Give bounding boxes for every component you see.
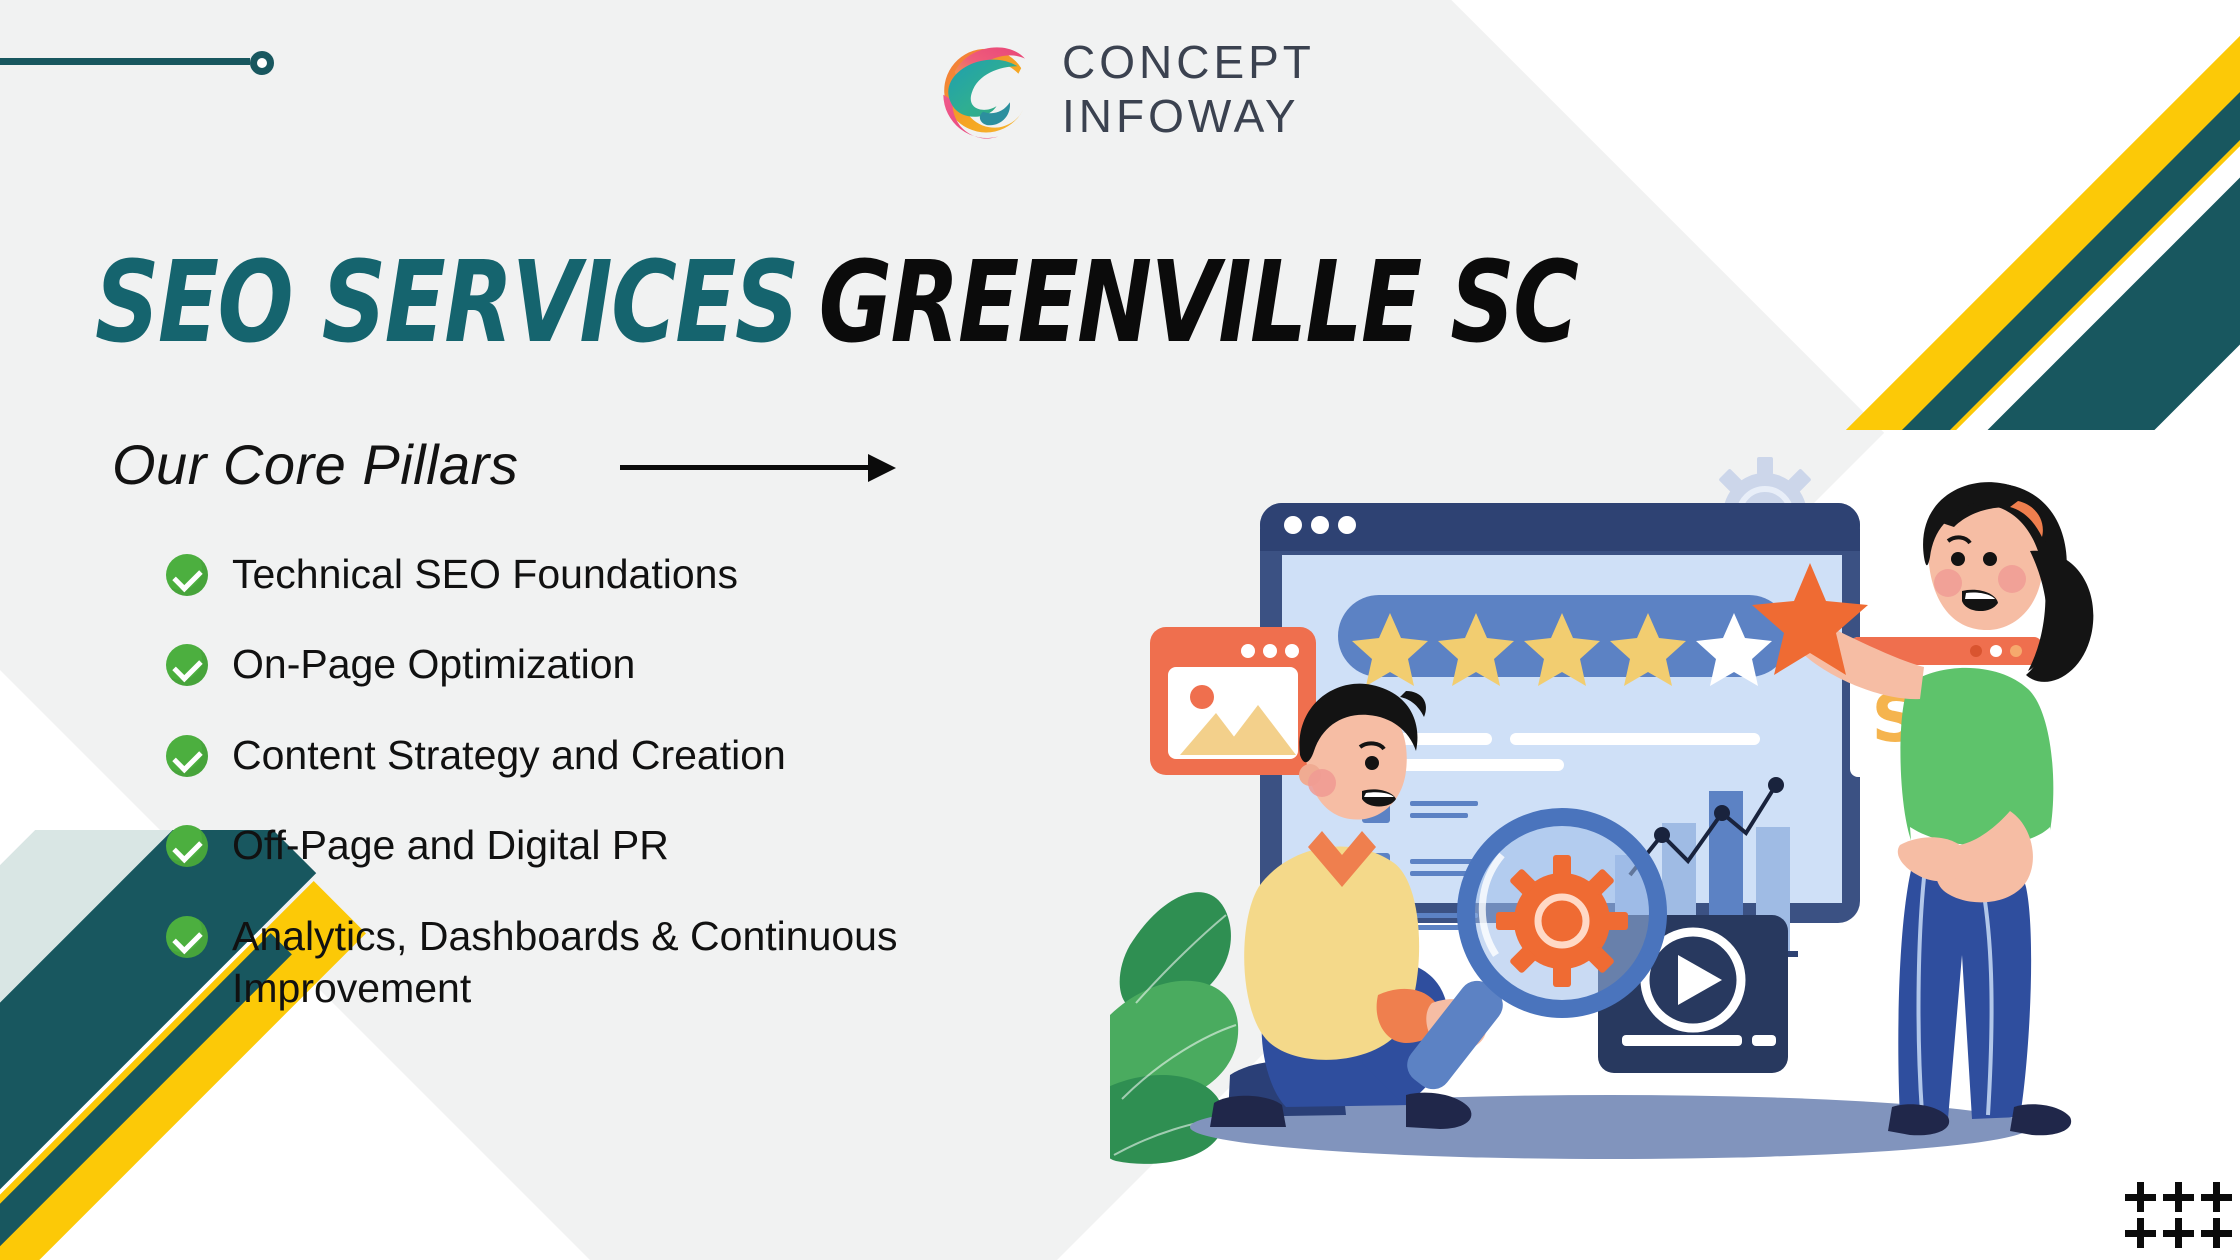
plus-grid-decor xyxy=(2126,1180,2240,1252)
list-item: Technical SEO Foundations xyxy=(166,548,1086,600)
list-item-label: Analytics, Dashboards & Continuous Impro… xyxy=(232,910,1022,1015)
top-left-accent-line xyxy=(0,58,250,65)
brand-logo[interactable]: CONCEPT INFOWAY xyxy=(930,32,1315,146)
arrow-shaft xyxy=(620,465,876,470)
page-title-part1: SEO SERVICES xyxy=(95,238,798,368)
list-item-label: Technical SEO Foundations xyxy=(232,548,738,600)
page-title-part2: GREENVILLE SC xyxy=(819,238,1578,368)
yellow-stripe xyxy=(1785,0,2240,430)
list-item-label: On-Page Optimization xyxy=(232,638,635,690)
subheading: Our Core Pillars xyxy=(112,432,518,497)
page-title: SEO SERVICESGREENVILLE SC xyxy=(95,238,1577,368)
plus-icon xyxy=(2164,1216,2202,1252)
core-pillars-list: Technical SEO Foundations On-Page Optimi… xyxy=(166,548,1086,1015)
plus-icon xyxy=(2164,1180,2202,1216)
list-item-label: Content Strategy and Creation xyxy=(232,729,786,781)
list-item: Analytics, Dashboards & Continuous Impro… xyxy=(166,910,1086,1015)
list-item: Content Strategy and Creation xyxy=(166,729,1086,781)
list-item: On-Page Optimization xyxy=(166,638,1086,690)
plus-icon xyxy=(2202,1216,2240,1252)
plus-icon xyxy=(2202,1180,2240,1216)
check-circle-icon xyxy=(166,554,208,596)
seo-illustration: SEO xyxy=(1110,455,2170,1175)
check-circle-icon xyxy=(166,644,208,686)
list-item: Off-Page and Digital PR xyxy=(166,819,1086,871)
logo-text-line1: CONCEPT xyxy=(1062,39,1315,85)
swirl-c-logo-icon xyxy=(930,32,1044,146)
top-right-stripe-decor xyxy=(1720,0,2240,430)
mint-stripe xyxy=(1978,63,2240,430)
logo-text-line2: INFOWAY xyxy=(1062,93,1315,139)
right-arrow-icon xyxy=(620,460,902,474)
check-circle-icon xyxy=(166,735,208,777)
plus-icon xyxy=(2126,1180,2164,1216)
star-rating-bar xyxy=(1338,595,1790,686)
top-left-accent-dot xyxy=(250,51,274,75)
orange-gear-icon xyxy=(1496,855,1628,987)
poster-canvas: CONCEPT INFOWAY SEO SERVICESGREENVILLE S… xyxy=(0,0,2240,1260)
check-circle-icon xyxy=(166,825,208,867)
plus-icon xyxy=(2126,1216,2164,1252)
list-item-label: Off-Page and Digital PR xyxy=(232,819,669,871)
arrow-head xyxy=(868,454,896,482)
teal-stripe-outer xyxy=(1840,0,2240,430)
image-placeholder-card xyxy=(1150,627,1316,775)
check-circle-icon xyxy=(166,916,208,958)
teal-stripe-inner xyxy=(1871,0,2240,430)
